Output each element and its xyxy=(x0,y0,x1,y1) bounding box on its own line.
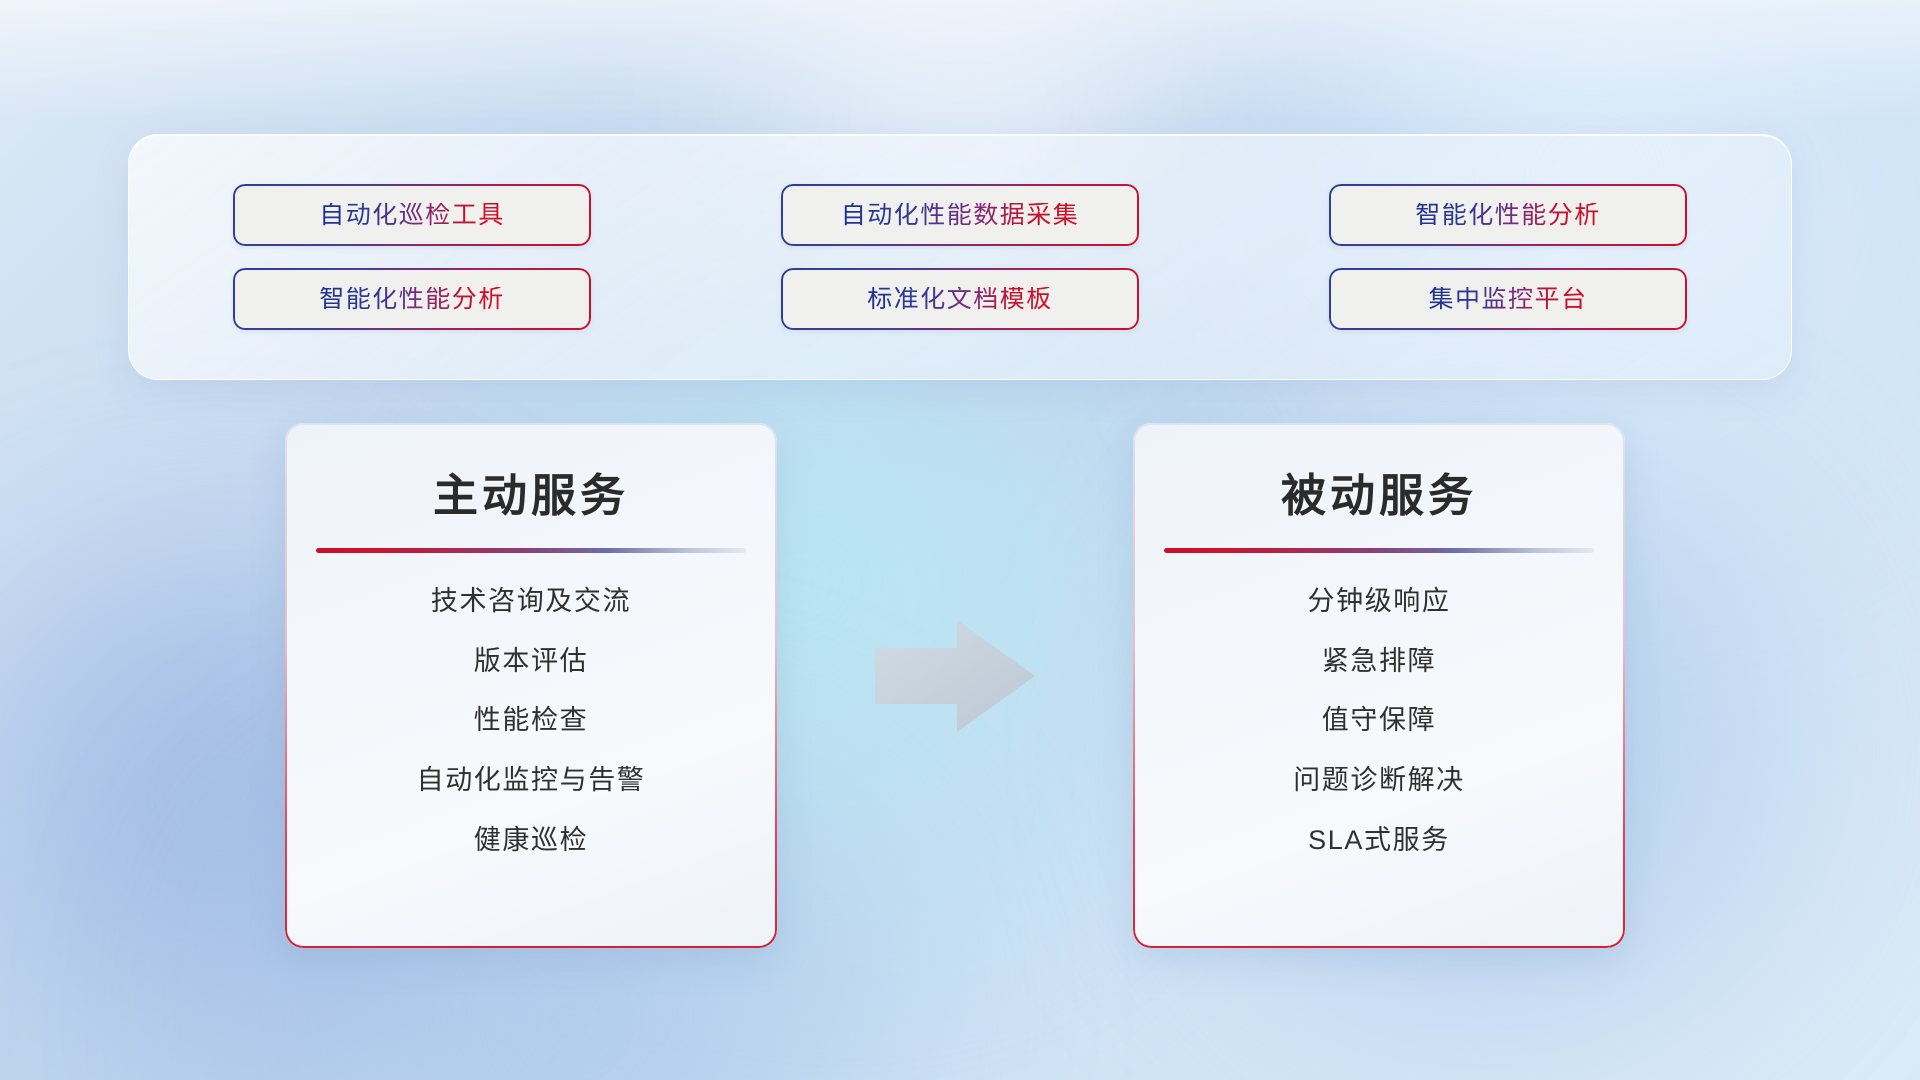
capability-pill-standard-document-template[interactable]: 标准化文档模板 xyxy=(781,268,1139,330)
list-item: 问题诊断解决 xyxy=(1133,766,1625,796)
capability-pill-label: 标准化文档模板 xyxy=(867,287,1053,312)
arrow-right-icon xyxy=(875,620,1035,732)
card-title-passive: 被动服务 xyxy=(1133,423,1625,524)
service-card-passive[interactable]: 被动服务 分钟级响应 紧急排障 值守保障 问题诊断解决 SLA式服务 xyxy=(1133,423,1625,948)
list-item: 值守保障 xyxy=(1133,706,1625,736)
list-item: 技术咨询及交流 xyxy=(285,587,777,617)
capability-row-2: 智能化性能分析 标准化文档模板 集中监控平台 xyxy=(129,268,1791,330)
service-card-active[interactable]: 主动服务 技术咨询及交流 版本评估 性能检查 自动化监控与告警 健康巡检 xyxy=(285,423,777,948)
list-item: 健康巡检 xyxy=(285,826,777,856)
slide-canvas: 自动化巡检工具 自动化性能数据采集 智能化性能分析 智能化性能分析 标准化文档模… xyxy=(0,0,1920,1080)
capability-pill-label: 自动化性能数据采集 xyxy=(841,203,1080,228)
list-item: 分钟级响应 xyxy=(1133,587,1625,617)
background-top-highlight xyxy=(0,0,1920,120)
list-item: 自动化监控与告警 xyxy=(285,766,777,796)
capability-pill-automated-inspection-tool[interactable]: 自动化巡检工具 xyxy=(233,184,591,246)
capability-pill-intelligent-performance-analysis-2[interactable]: 智能化性能分析 xyxy=(233,268,591,330)
list-item: 性能检查 xyxy=(285,706,777,736)
service-list-passive: 分钟级响应 紧急排障 值守保障 问题诊断解决 SLA式服务 xyxy=(1133,553,1625,855)
list-item: SLA式服务 xyxy=(1133,826,1625,856)
service-list-active: 技术咨询及交流 版本评估 性能检查 自动化监控与告警 健康巡检 xyxy=(285,553,777,855)
capability-pill-label: 集中监控平台 xyxy=(1428,287,1587,312)
capability-pill-label: 智能化性能分析 xyxy=(319,287,505,312)
capability-pill-automated-performance-data-collection[interactable]: 自动化性能数据采集 xyxy=(781,184,1139,246)
card-title-active: 主动服务 xyxy=(285,423,777,524)
list-item: 紧急排障 xyxy=(1133,647,1625,677)
capability-pill-label: 智能化性能分析 xyxy=(1415,203,1601,228)
capability-pill-intelligent-performance-analysis-1[interactable]: 智能化性能分析 xyxy=(1329,184,1687,246)
capability-pill-centralized-monitoring-platform[interactable]: 集中监控平台 xyxy=(1329,268,1687,330)
capability-pill-label: 自动化巡检工具 xyxy=(319,203,505,228)
capability-panel: 自动化巡检工具 自动化性能数据采集 智能化性能分析 智能化性能分析 标准化文档模… xyxy=(128,134,1792,380)
list-item: 版本评估 xyxy=(285,647,777,677)
capability-row-1: 自动化巡检工具 自动化性能数据采集 智能化性能分析 xyxy=(129,184,1791,246)
